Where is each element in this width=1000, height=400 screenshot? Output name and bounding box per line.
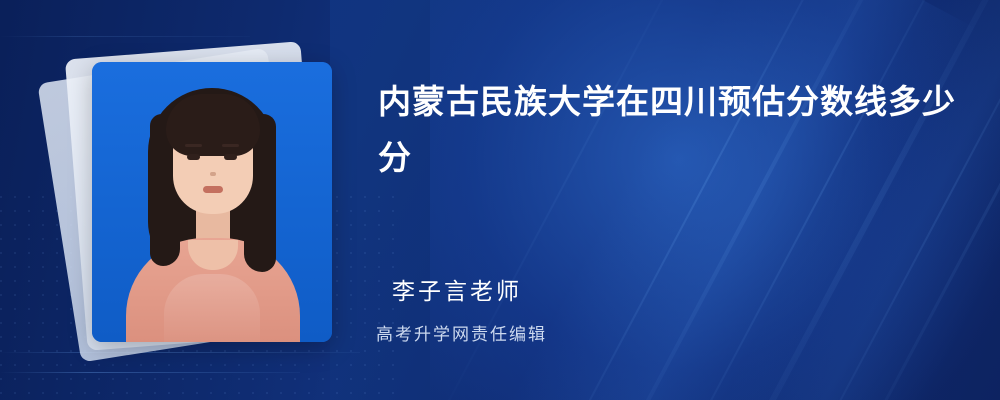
article-hero-banner: 内蒙古民族大学在四川预估分数线多少分 李子言老师 高考升学网责任编辑 — [0, 0, 1000, 400]
portrait-hair-front — [166, 94, 260, 156]
portrait-eye-left — [187, 154, 200, 160]
portrait-dress-highlight — [164, 274, 260, 342]
portrait-nose — [210, 172, 216, 176]
author-name: 李子言老师 — [392, 272, 522, 306]
author-role: 高考升学网责任编辑 — [376, 320, 547, 345]
accent-line-2 — [0, 372, 300, 373]
portrait-eye-right — [224, 154, 237, 160]
portrait-mouth — [203, 186, 223, 193]
portrait-photo-stack — [52, 34, 352, 364]
photo-frame-front — [92, 62, 332, 342]
portrait-eyebrow-left — [185, 144, 202, 147]
page-title: 内蒙古民族大学在四川预估分数线多少分 — [378, 74, 958, 186]
portrait-eyebrow-right — [222, 144, 239, 147]
